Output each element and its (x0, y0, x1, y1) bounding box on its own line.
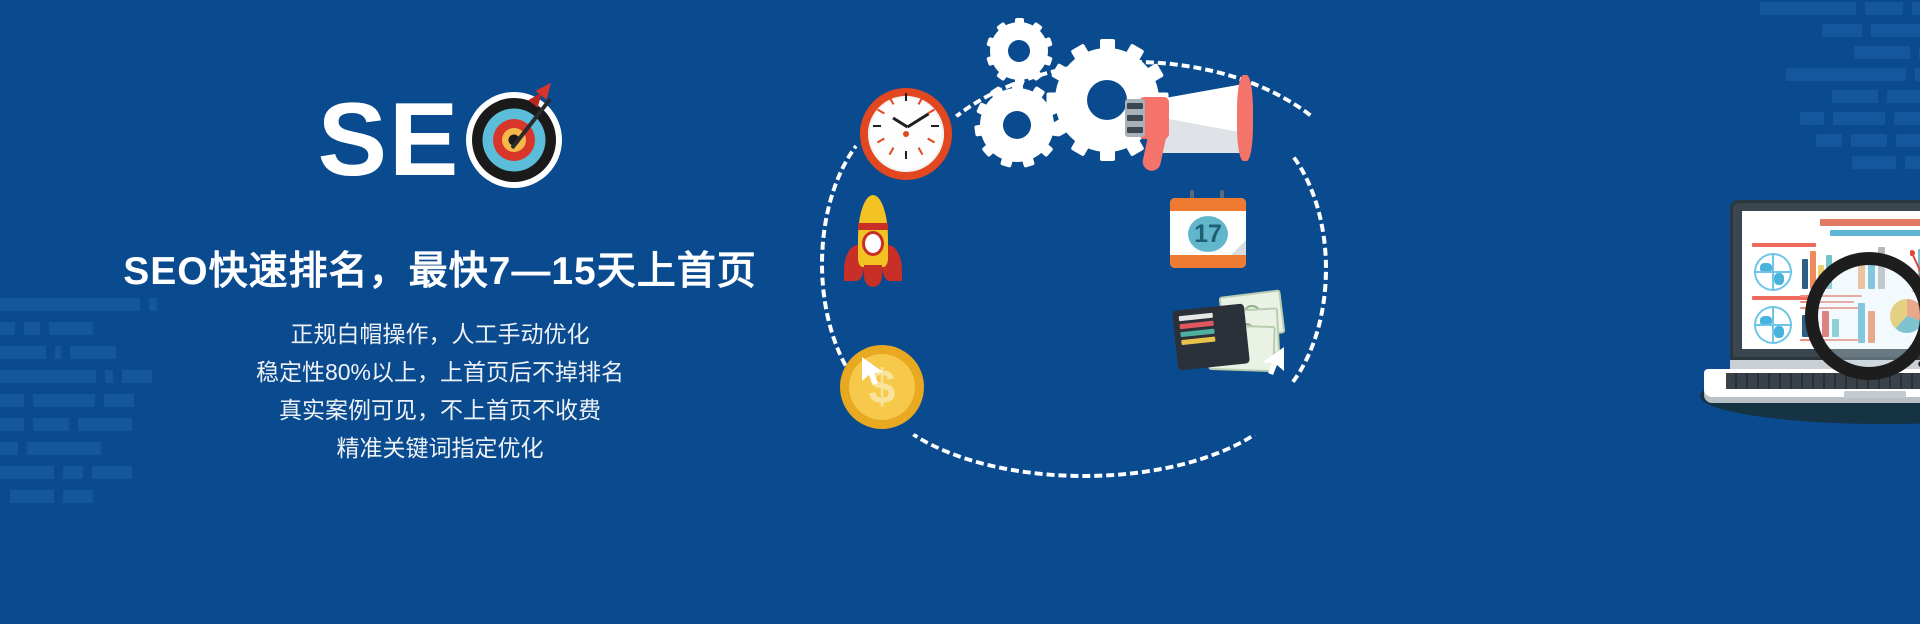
gear-hole (1003, 111, 1031, 139)
list-item: 真实案例可见，不上首页不收费 (0, 394, 880, 426)
magnifying-glass-icon (1805, 252, 1920, 402)
gear-tooth (1100, 139, 1115, 161)
gear-tooth (1043, 123, 1060, 136)
globe-continent (1774, 326, 1784, 338)
globe-icon (1754, 306, 1792, 344)
logo-text: SE (318, 88, 461, 192)
calendar-footer (1170, 255, 1246, 268)
globe-continent (1760, 316, 1772, 326)
clock-icon (860, 88, 952, 180)
feature-list: 正规白帽操作，人工手动优化 稳定性80%以上，上首页后不掉排名 真实案例可见，不… (0, 318, 880, 470)
screen-header-bar (1820, 219, 1920, 226)
clock-tick (905, 93, 907, 101)
gear-tooth (974, 123, 991, 136)
rocket-window (865, 234, 881, 253)
screen-text-line (1752, 243, 1816, 247)
globe-icon (1754, 253, 1792, 291)
gear-tooth (1100, 39, 1115, 61)
target-bullseye-icon (466, 92, 562, 188)
globe-continent (1760, 263, 1772, 273)
wallet-card (1179, 313, 1213, 322)
seo-promo-banner: SE SEO快速排名，最快7—15天上首页 正规白帽操作，人工手动优化 稳定性8… (0, 0, 1920, 624)
gear-hole (1008, 40, 1030, 62)
gear-icon (990, 22, 1048, 80)
rocket-body (858, 195, 888, 267)
megaphone-vent (1127, 103, 1143, 109)
list-item: 正规白帽操作，人工手动优化 (0, 318, 880, 350)
megaphone-vent (1127, 115, 1143, 121)
magnifier-lens (1805, 252, 1920, 380)
clock-tick (873, 125, 881, 127)
clock-tick (905, 151, 907, 159)
gear-tooth (1015, 18, 1024, 31)
screen-subheader-bar (1830, 230, 1920, 236)
megaphone-vent (1127, 127, 1143, 133)
calendar-day-number: 17 (1188, 216, 1228, 252)
list-item: 稳定性80%以上，上首页后不掉排名 (0, 356, 880, 388)
gear-icon (980, 88, 1054, 162)
megaphone-icon (1125, 75, 1255, 175)
wallet-card (1180, 329, 1214, 338)
calendar-icon: 17 (1170, 190, 1246, 268)
rocket-stripe (858, 223, 888, 230)
text-column: SE SEO快速排名，最快7—15天上首页 正规白帽操作，人工手动优化 稳定性8… (0, 0, 880, 624)
globe-continent (1774, 273, 1784, 285)
rocket-nozzle (864, 265, 882, 287)
clock-center-pin (903, 131, 909, 137)
list-item: 精准关键词指定优化 (0, 432, 880, 464)
gear-tooth (1012, 82, 1023, 98)
wallet-card (1179, 321, 1213, 330)
gear-hole (1087, 80, 1127, 120)
seo-illustration: $ 17 (840, 0, 1920, 624)
megaphone-lip (1237, 75, 1253, 161)
rocket-icon (842, 195, 904, 295)
page-title: SEO快速排名，最快7—15天上首页 (0, 240, 880, 296)
clock-tick (931, 125, 939, 127)
wallet-card (1181, 337, 1215, 346)
seo-logo: SE (0, 88, 880, 192)
calendar-header (1170, 198, 1246, 211)
wallet-body (1172, 303, 1250, 370)
